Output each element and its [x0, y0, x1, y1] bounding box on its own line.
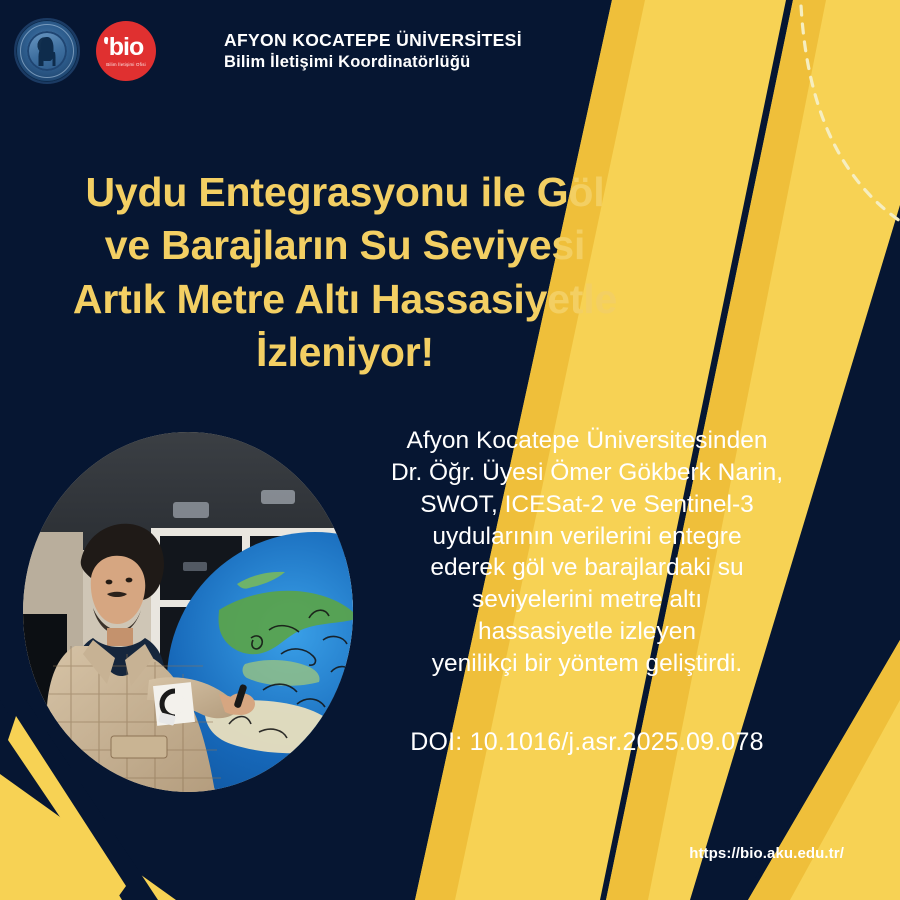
website-url[interactable]: https://bio.aku.edu.tr/	[689, 845, 844, 862]
page-title: Uydu Entegrasyonu ile Göl ve Barajların …	[0, 166, 690, 379]
poster-header: bio Bilim İletişimi Ofisi AFYON KOCATEPE…	[14, 18, 522, 84]
headline-line-3: Artık Metre Altı Hassasiyetle	[0, 273, 690, 326]
body-line-6: seviyelerini metre altı	[352, 584, 822, 616]
poster-canvas: bio Bilim İletişimi Ofisi AFYON KOCATEPE…	[0, 0, 900, 900]
researcher-photo-illustration	[23, 432, 353, 792]
body-line-4: uydularının verilerini entegre	[352, 521, 822, 553]
body-line-3: SWOT, ICESat-2 ve Sentinel-3	[352, 489, 822, 521]
afyon-kocatepe-university-seal-icon	[14, 18, 80, 84]
body-paragraph: Afyon Kocatepe Üniversitesinden Dr. Öğr.…	[352, 425, 822, 680]
doi-text: DOI: 10.1016/j.asr.2025.09.078	[352, 728, 822, 757]
organisation-name: AFYON KOCATEPE ÜNİVERSİTESİ	[224, 29, 522, 52]
seal-figure	[41, 37, 54, 61]
body-line-2: Dr. Öğr. Üyesi Ömer Gökberk Narin,	[352, 457, 822, 489]
body-line-7: hassasiyetle izleyen	[352, 616, 822, 648]
researcher-photo	[23, 432, 353, 792]
headline-line-1: Uydu Entegrasyonu ile Göl	[0, 166, 690, 219]
body-line-8: yenilikçi bir yöntem geliştirdi.	[352, 648, 822, 680]
body-line-5: ederek göl ve barajlardaki su	[352, 552, 822, 584]
headline-line-4: İzleniyor!	[0, 326, 690, 379]
bio-logo-word: bio	[109, 35, 144, 60]
bio-circle-logo-icon: bio Bilim İletişimi Ofisi	[96, 21, 156, 81]
header-title-block: AFYON KOCATEPE ÜNİVERSİTESİ Bilim İletiş…	[224, 29, 522, 74]
bio-logo-subtitle: Bilim İletişimi Ofisi	[106, 62, 146, 67]
headline-line-2: ve Barajların Su Seviyesi	[0, 219, 690, 272]
organisation-unit: Bilim İletişimi Koordinatörlüğü	[224, 52, 522, 74]
body-line-1: Afyon Kocatepe Üniversitesinden	[352, 425, 822, 457]
